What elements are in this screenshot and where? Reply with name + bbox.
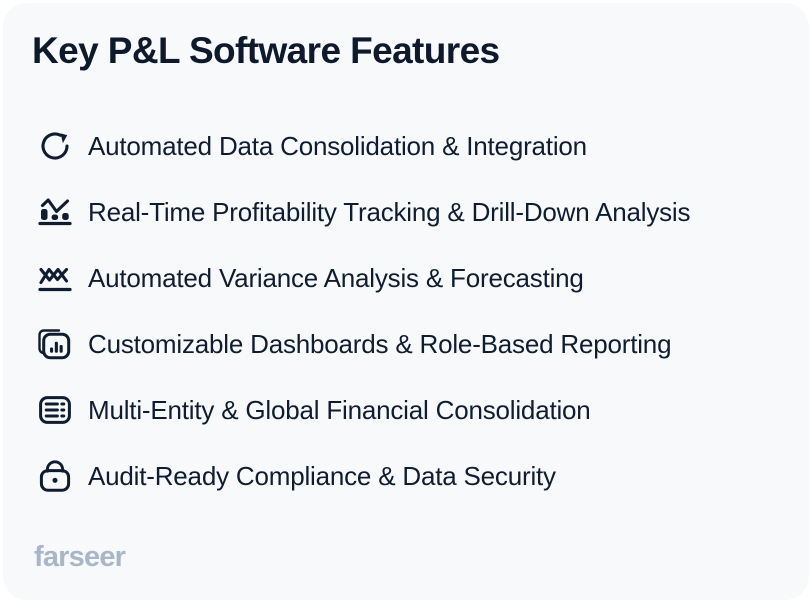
feature-label: Customizable Dashboards & Role-Based Rep… <box>88 329 671 360</box>
list-document-icon <box>32 388 78 432</box>
feature-label: Real-Time Profitability Tracking & Drill… <box>88 197 690 228</box>
feature-row: Audit-Ready Compliance & Data Security <box>32 443 777 509</box>
feature-label: Audit-Ready Compliance & Data Security <box>88 461 556 492</box>
feature-row: Automated Variance Analysis & Forecastin… <box>32 245 777 311</box>
crossing-trend-lines-icon <box>32 256 78 300</box>
bar-chart-with-trend-line-icon <box>32 190 78 234</box>
refresh-circular-arrow-icon <box>32 124 78 168</box>
feature-label: Automated Variance Analysis & Forecastin… <box>88 263 584 294</box>
farseer-logo: farseer <box>34 541 125 574</box>
feature-list: Automated Data Consolidation & Integrati… <box>32 113 777 509</box>
feature-card: Key P&L Software Features Automated Data… <box>3 3 809 600</box>
stacked-dashboard-cards-icon <box>32 322 78 366</box>
feature-row: Multi-Entity & Global Financial Consolid… <box>32 377 777 443</box>
padlock-icon <box>32 454 78 498</box>
feature-label: Multi-Entity & Global Financial Consolid… <box>88 395 591 426</box>
feature-row: Automated Data Consolidation & Integrati… <box>32 113 777 179</box>
feature-row: Customizable Dashboards & Role-Based Rep… <box>32 311 777 377</box>
page-title: Key P&L Software Features <box>32 30 500 72</box>
feature-label: Automated Data Consolidation & Integrati… <box>88 131 587 162</box>
feature-row: Real-Time Profitability Tracking & Drill… <box>32 179 777 245</box>
